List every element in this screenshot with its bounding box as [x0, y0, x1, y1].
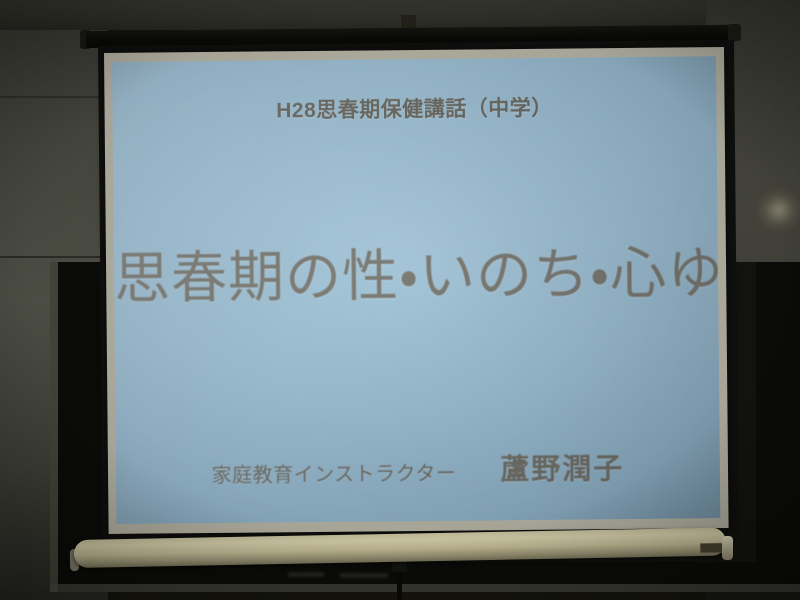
screen-pull-cord-knob[interactable] — [392, 562, 407, 572]
roller-end-cap-right — [728, 24, 741, 41]
chalk-smudge — [340, 573, 388, 578]
chalk-smudge — [288, 572, 324, 577]
light-reflection — [756, 188, 800, 232]
wall-seam-upper — [0, 96, 108, 98]
blackboard-frame-left — [50, 262, 58, 592]
slide-header-text: H28思春期保健講話（中学） — [112, 90, 716, 126]
slide-title-text: 思春期の性・いのち・心ゆたかに — [114, 228, 719, 315]
projection-scene: H28思春期保健講話（中学） 思春期の性・いのち・心ゆたかに 家庭教育インストラ… — [0, 0, 800, 600]
bottom-bar-cap-right — [722, 536, 733, 560]
presenter-role-text: 家庭教育インストラクター — [211, 457, 456, 488]
blackboard-frame-bottom — [50, 584, 800, 592]
presenter-name-text: 蘆野潤子 — [500, 445, 624, 488]
screen-brand-label — [700, 543, 724, 553]
projected-slide: H28思春期保健講話（中学） 思春期の性・いのち・心ゆたかに 家庭教育インストラ… — [112, 56, 720, 524]
wall-seam-lower — [0, 256, 108, 258]
slide-footer: 家庭教育インストラクター 蘆野潤子 — [116, 444, 720, 492]
